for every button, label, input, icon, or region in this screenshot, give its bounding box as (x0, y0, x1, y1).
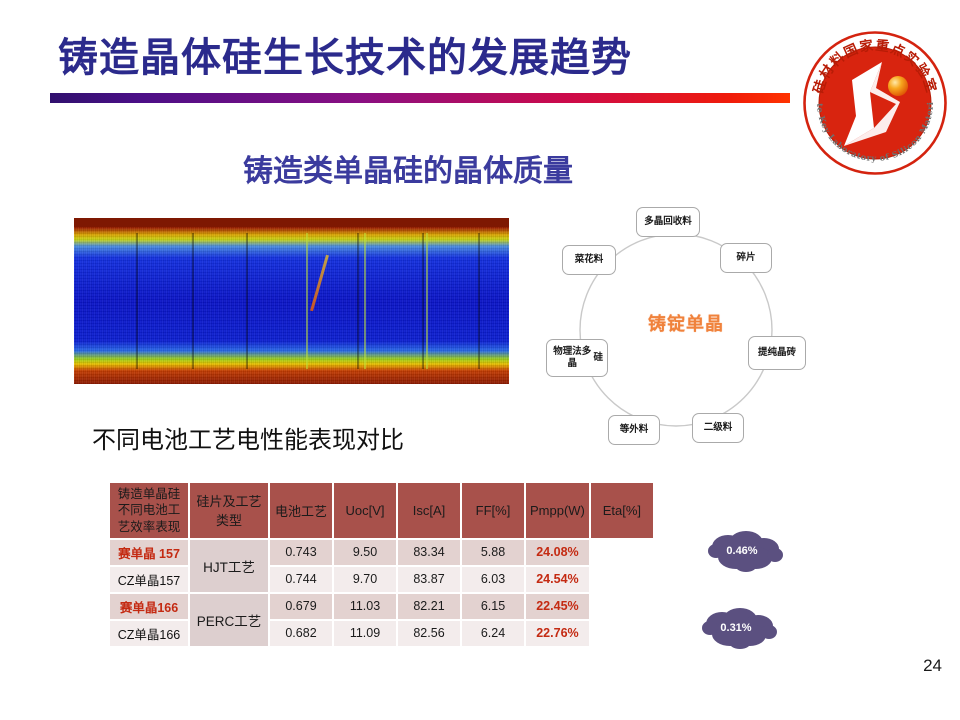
cell-pmpp: 5.88 (462, 540, 524, 565)
delta-callout-cloud: 0.46% (706, 527, 784, 575)
wafer-type-label: CZ单晶166 (118, 628, 181, 642)
cell-ff: 82.21 (398, 594, 460, 619)
column-header-isc: Isc[A] (398, 483, 460, 538)
cell-eta: 22.45% (526, 594, 589, 619)
cell-isc: 9.70 (334, 567, 396, 592)
cell-uoc: 0.682 (270, 621, 332, 646)
wafer-type-header-line: 类型 (194, 510, 264, 529)
eta-value: 22.76% (536, 626, 578, 640)
cell-wafer-type: 赛单晶166 (110, 594, 188, 619)
cell-ff: 83.87 (398, 567, 460, 592)
cell-process-type: PERC工艺 (190, 594, 268, 646)
cycle-node: 碎片 (720, 243, 772, 273)
cycle-node: 提纯晶砖 (748, 336, 806, 370)
corner-label-line: 不同电池工 (114, 502, 184, 518)
callout-label: 0.46% (706, 527, 784, 575)
pl-grain-boundary (422, 233, 424, 369)
eta-value: 24.08% (536, 545, 578, 559)
cell-pmpp: 6.15 (462, 594, 524, 619)
cell-uoc: 0.744 (270, 567, 332, 592)
table-row: 赛单晶 157HJT工艺0.7439.5083.345.8824.08% (110, 540, 653, 565)
cell-eta: 22.76% (526, 621, 589, 646)
cycle-node-label: 硅 (593, 352, 603, 364)
column-header-pmpp: Pmpp(W) (526, 483, 589, 538)
column-header-wafer-type: 硅片及工艺 类型 (190, 483, 268, 538)
cycle-node-label: 多晶回收料 (644, 216, 692, 228)
pl-bright-boundary (364, 233, 366, 369)
cycle-node-label: 碎片 (736, 252, 755, 264)
table-caption: 不同电池工艺电性能表现对比 (92, 420, 404, 455)
pl-top-edge-band (74, 218, 509, 227)
cell-pmpp: 6.03 (462, 567, 524, 592)
column-header-ff: FF[%] (462, 483, 524, 538)
cycle-node: 菜花料 (562, 245, 616, 275)
cell-uoc: 0.679 (270, 594, 332, 619)
pl-scan-image (74, 218, 509, 384)
table-header-row: 铸造单晶硅 不同电池工 艺效率表现 硅片及工艺 类型 电池工艺 Uoc[V] I… (110, 483, 653, 538)
corner-label-line: 铸造单晶硅 (114, 486, 184, 502)
pl-grain-boundary (478, 233, 480, 369)
performance-table-body: 赛单晶 157HJT工艺0.7439.5083.345.8824.08%CZ单晶… (110, 540, 653, 646)
cell-eta: 24.08% (526, 540, 589, 565)
pl-grain-boundary (192, 233, 194, 369)
performance-table: 铸造单晶硅 不同电池工 艺效率表现 硅片及工艺 类型 电池工艺 Uoc[V] I… (108, 481, 655, 648)
pl-bright-boundary (426, 233, 428, 369)
cell-isc: 11.09 (334, 621, 396, 646)
cycle-center-label: 铸锭单晶 (628, 310, 744, 336)
cycle-diagram: 铸锭单晶 多晶回收料碎片提纯晶砖二级料等外料物理法多晶硅菜花料 (536, 203, 836, 458)
cycle-node-label: 等外料 (620, 424, 649, 436)
cell-eta: 24.54% (526, 567, 589, 592)
cell-isc: 9.50 (334, 540, 396, 565)
callout-label: 0.31% (700, 604, 778, 652)
cell-wafer-type: 赛单晶 157 (110, 540, 188, 565)
cycle-node: 等外料 (608, 415, 660, 445)
pl-grain-boundary (246, 233, 248, 369)
cell-wafer-type: CZ单晶157 (110, 567, 188, 592)
column-header-eta: Eta[%] (591, 483, 653, 538)
cycle-node: 二级料 (692, 413, 744, 443)
cell-uoc: 0.743 (270, 540, 332, 565)
page-number: 24 (923, 656, 942, 676)
cycle-node: 物理法多晶硅 (546, 339, 608, 377)
cycle-node-label: 菜花料 (575, 254, 604, 266)
cell-isc: 11.03 (334, 594, 396, 619)
slide: 铸造晶体硅生长技术的发展趋势 硅材料国家重点实验室 (0, 0, 960, 720)
cycle-node-label: 二级料 (704, 422, 733, 434)
eta-value: 24.54% (536, 572, 578, 586)
cell-pmpp: 6.24 (462, 621, 524, 646)
page-title: 铸造晶体硅生长技术的发展趋势 (58, 36, 632, 80)
column-header-process: 电池工艺 (270, 483, 332, 538)
wafer-type-label: CZ单晶157 (118, 574, 181, 588)
cell-process-type: HJT工艺 (190, 540, 268, 592)
cell-ff: 83.34 (398, 540, 460, 565)
cell-wafer-type: CZ单晶166 (110, 621, 188, 646)
cycle-node-label: 物理法多晶 (551, 346, 593, 370)
pl-noise-layer (74, 218, 509, 384)
wafer-type-header-line: 硅片及工艺 (194, 491, 264, 510)
table-corner-label: 铸造单晶硅 不同电池工 艺效率表现 (110, 483, 188, 538)
corner-label-line: 艺效率表现 (114, 519, 184, 535)
cell-ff: 82.56 (398, 621, 460, 646)
lab-logo: 硅材料国家重点实验室 State Key Laboratory of Silic… (800, 28, 950, 178)
pl-grain-boundary (357, 233, 359, 369)
delta-callout-cloud: 0.31% (700, 604, 778, 652)
wafer-type-label: 赛单晶 157 (118, 547, 180, 561)
wafer-type-label: 赛单晶166 (120, 601, 178, 615)
table-row: 赛单晶166PERC工艺0.67911.0382.216.1522.45% (110, 594, 653, 619)
performance-table-wrapper: 铸造单晶硅 不同电池工 艺效率表现 硅片及工艺 类型 电池工艺 Uoc[V] I… (108, 481, 655, 648)
column-header-uoc: Uoc[V] (334, 483, 396, 538)
performance-table-head: 铸造单晶硅 不同电池工 艺效率表现 硅片及工艺 类型 电池工艺 Uoc[V] I… (110, 483, 653, 538)
section-subtitle: 铸造类单晶硅的晶体质量 (243, 146, 573, 190)
eta-value: 22.45% (536, 599, 578, 613)
title-divider-rule (50, 93, 790, 103)
pl-bright-boundary (306, 233, 308, 369)
cycle-node: 多晶回收料 (636, 207, 700, 237)
pl-grain-boundary (136, 233, 138, 369)
cycle-node-label: 提纯晶砖 (758, 347, 796, 359)
